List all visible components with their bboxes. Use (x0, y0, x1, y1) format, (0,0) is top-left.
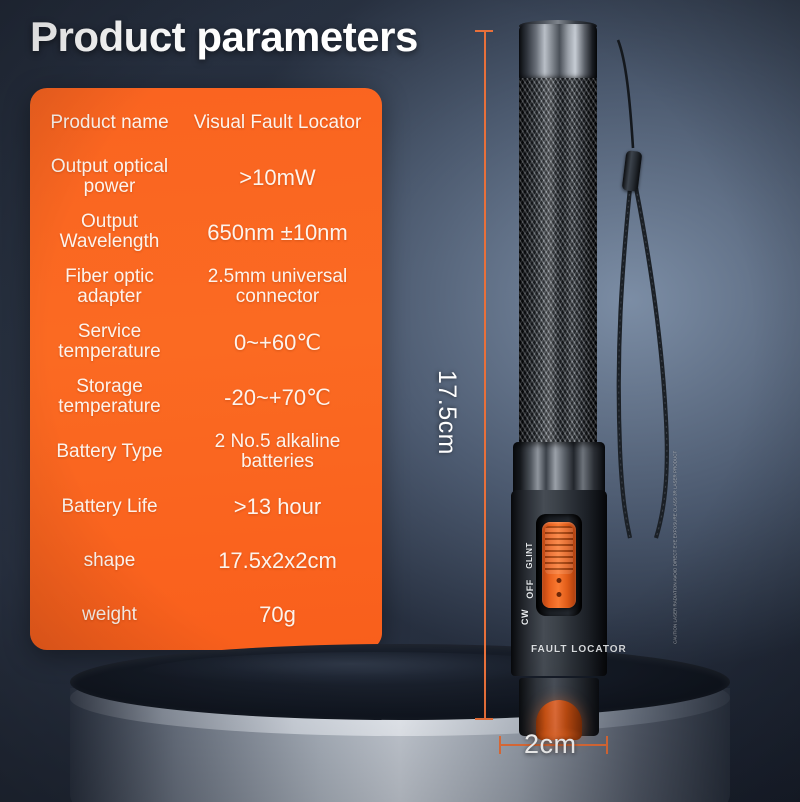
width-tick-right (606, 736, 608, 754)
height-measure-line (484, 30, 486, 720)
table-row: Product name Visual Fault Locator (38, 103, 372, 143)
table-row: Battery Type 2 No.5 alkaline batteries (38, 432, 372, 473)
spec-label: Battery Life (38, 497, 183, 518)
display-pedestal (20, 616, 780, 802)
table-row: shape 17.5x2x2cm (38, 541, 372, 581)
spec-value: 17.5x2x2cm (183, 549, 372, 573)
switch-grip-ridges (545, 526, 573, 574)
spec-label: Fiber optic adapter (38, 267, 183, 308)
table-row: Storage temperature -20~+70℃ (38, 377, 372, 418)
spec-value: 0~+60℃ (183, 331, 372, 355)
table-row: Service temperature 0~+60℃ (38, 322, 372, 363)
spec-value: 2 No.5 alkaline batteries (183, 432, 372, 473)
table-row: Fiber optic adapter 2.5mm universal conn… (38, 267, 372, 308)
lanyard-cord-icon (600, 20, 710, 540)
spec-value: 650nm ±10nm (183, 221, 372, 245)
spec-label: Output optical power (38, 157, 183, 198)
lanyard-cinch (622, 150, 643, 192)
spec-label: Output Wavelength (38, 212, 183, 253)
spec-value: >13 hour (183, 495, 372, 519)
switch-dot (557, 592, 562, 597)
marking-glint: GLINT (525, 542, 534, 569)
height-tick-top (475, 30, 493, 32)
device-collar (513, 442, 605, 494)
height-measure-label: 17.5cm (432, 370, 461, 455)
marking-off: OFF (525, 579, 535, 599)
spec-value: -20~+70℃ (183, 386, 372, 410)
marking-brand: FAULT LOCATOR (531, 644, 627, 655)
spec-label: Battery Type (38, 442, 183, 463)
spec-label: Storage temperature (38, 377, 183, 418)
barrel-highlight (543, 78, 557, 444)
specification-table: Product name Visual Fault Locator Output… (30, 88, 382, 650)
marking-warning-label: CAUTION LASER RADIATION AVOID DIRECT EYE… (672, 451, 679, 644)
page-title: Product parameters (30, 13, 418, 61)
switch-dot (557, 578, 562, 583)
spec-value: Visual Fault Locator (183, 113, 372, 134)
spec-label: Service temperature (38, 322, 183, 363)
width-tick-left (499, 736, 501, 754)
lanyard (600, 20, 710, 540)
device-knurled-barrel (519, 78, 597, 444)
marking-cw: CW (520, 609, 530, 625)
table-row: Battery Life >13 hour (38, 487, 372, 527)
spec-label: Product name (38, 113, 183, 134)
product-parameters-image: Product parameters Product name Visual F… (0, 0, 800, 802)
product-device: GLINT OFF CW CAUTION LASER RADIATION AVO… (509, 24, 615, 724)
table-row: Output optical power >10mW (38, 157, 372, 198)
spec-label: shape (38, 551, 183, 572)
spec-value: >10mW (183, 166, 372, 190)
device-cap (519, 24, 597, 80)
width-measure-label: 2cm (524, 729, 577, 760)
height-tick-bottom (475, 718, 493, 720)
spec-value: 2.5mm universal connector (183, 267, 372, 308)
power-switch[interactable] (542, 522, 576, 608)
table-row: Output Wavelength 650nm ±10nm (38, 212, 372, 253)
